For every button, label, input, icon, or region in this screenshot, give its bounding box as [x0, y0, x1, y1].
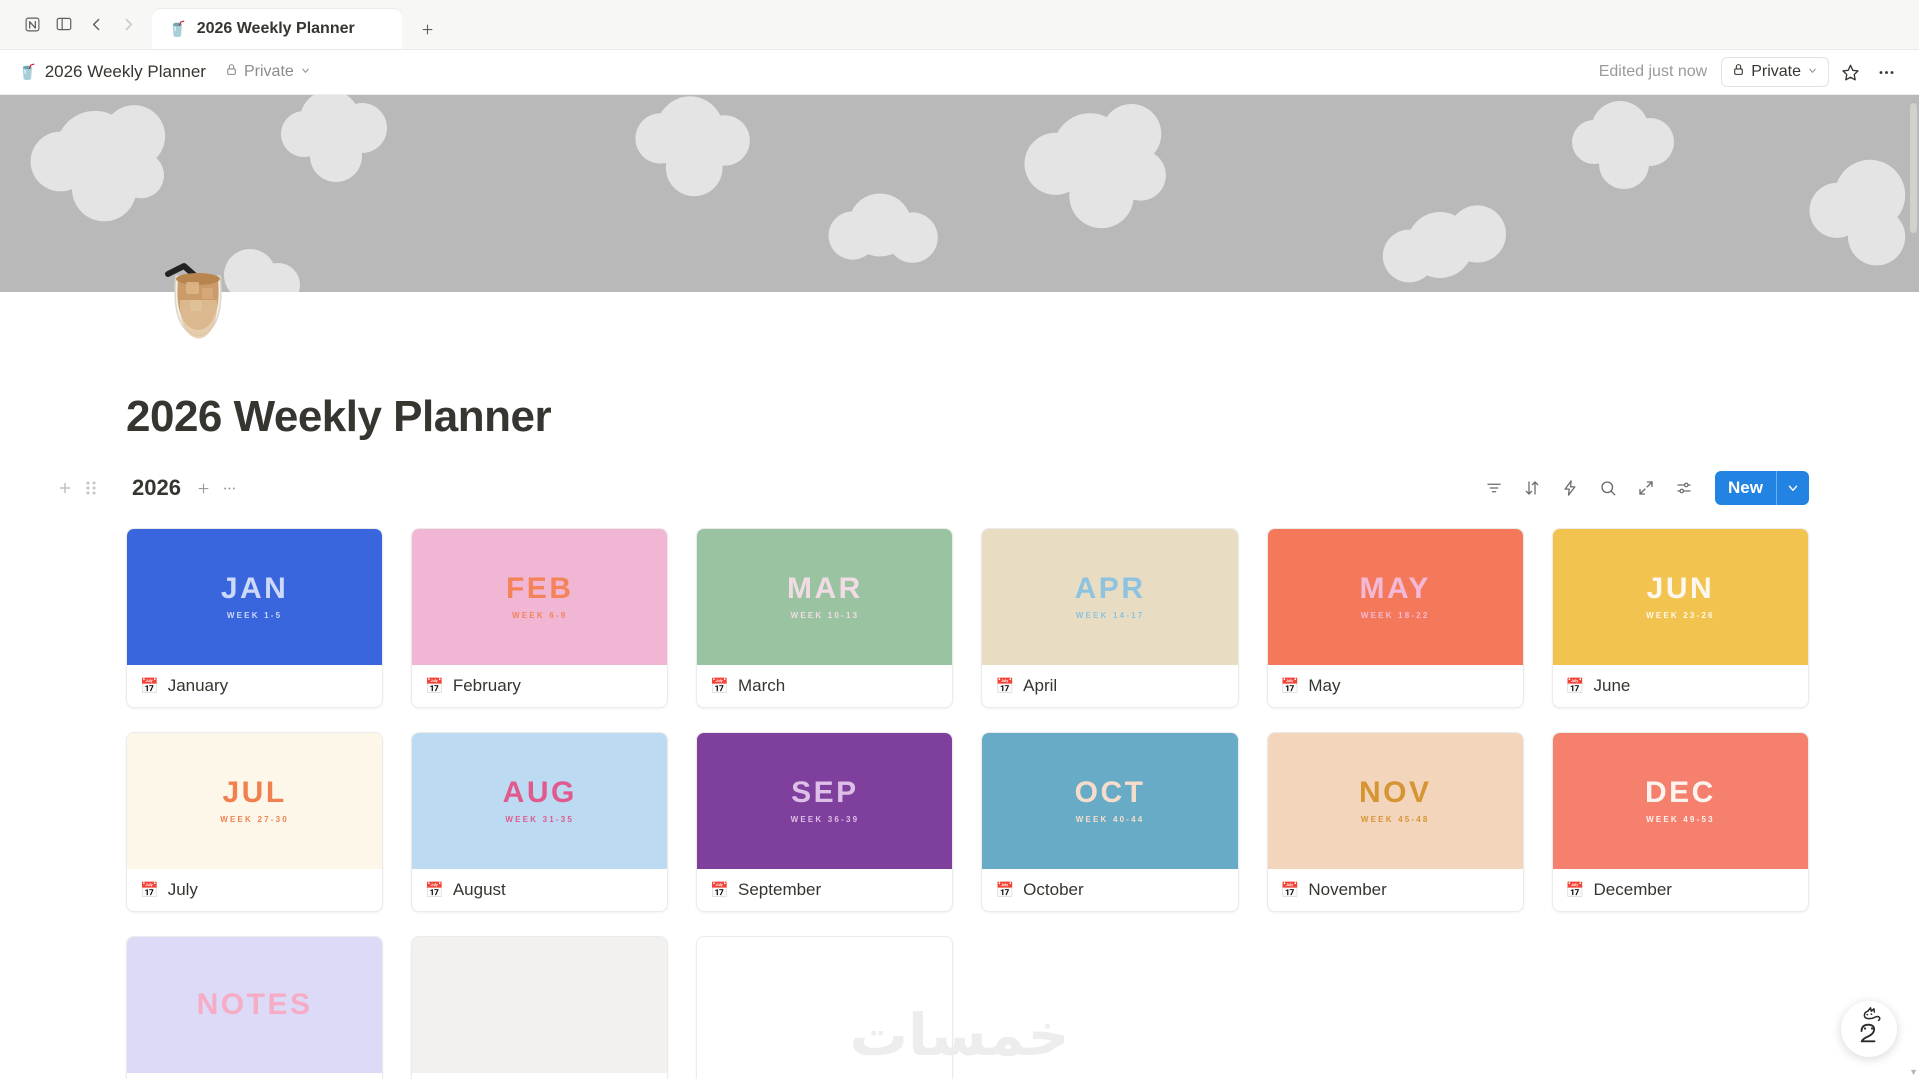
card-week-range: WEEK 27-30: [220, 815, 289, 824]
card-month-abbr: NOV: [1359, 778, 1432, 808]
card-title-row[interactable]: 📅April: [982, 665, 1237, 707]
card-title: December: [1594, 880, 1672, 900]
gallery-card[interactable]: JUNWEEK 23-26📅June: [1552, 528, 1809, 708]
card-cover: MARWEEK 10-13: [697, 529, 952, 665]
scroll-down-arrow-icon[interactable]: ▼: [1909, 1067, 1918, 1077]
card-cover: JANWEEK 1-5: [127, 529, 382, 665]
card-title: February: [453, 676, 521, 696]
automation-lightning-icon[interactable]: [1553, 471, 1587, 505]
add-view-plus-icon[interactable]: [191, 475, 217, 501]
card-week-range: WEEK 18-22: [1361, 611, 1430, 620]
card-title-row[interactable]: [412, 1073, 667, 1079]
notion-logo-icon[interactable]: [18, 10, 46, 38]
card-week-range: WEEK 1-5: [227, 611, 282, 620]
calendar-icon: 📅: [425, 883, 444, 898]
share-lock-icon: [1732, 63, 1745, 81]
page-content: 2026 Weekly Planner 2026: [0, 392, 1919, 1079]
cover-cloud-pattern: [0, 95, 1919, 292]
card-title-row[interactable]: [127, 1073, 382, 1079]
notion-help-widget[interactable]: [1841, 1001, 1897, 1057]
lock-icon: [225, 63, 238, 81]
card-title: January: [168, 676, 228, 696]
view-more-ellipsis-icon[interactable]: [217, 475, 243, 501]
card-title-row[interactable]: 📅January: [127, 665, 382, 707]
gallery-card[interactable]: APRWEEK 14-17📅April: [981, 528, 1238, 708]
share-chevron-down-icon: [1807, 63, 1818, 81]
new-button-chevron-down-icon[interactable]: [1776, 471, 1809, 505]
favorite-star-icon[interactable]: [1835, 57, 1865, 87]
gallery-card[interactable]: [411, 936, 668, 1079]
card-month-abbr: MAR: [787, 574, 863, 604]
new-button-label: New: [1715, 471, 1776, 505]
filter-icon[interactable]: [1477, 471, 1511, 505]
card-cover: JULWEEK 27-30: [127, 733, 382, 869]
gallery-card[interactable]: FEBWEEK 6-9📅February: [411, 528, 668, 708]
card-week-range: WEEK 10-13: [791, 611, 860, 620]
calendar-icon: 📅: [1281, 679, 1300, 694]
card-cover: [412, 937, 667, 1073]
scroll-thumb[interactable]: [1910, 103, 1917, 233]
card-week-range: WEEK 23-26: [1646, 611, 1715, 620]
card-cover: AUGWEEK 31-35: [412, 733, 667, 869]
card-title-row[interactable]: 📅June: [1553, 665, 1808, 707]
card-cover: DECWEEK 49-53: [1553, 733, 1808, 869]
database-title[interactable]: 2026: [126, 473, 187, 503]
top-bar-actions: Edited just now Private: [1599, 57, 1901, 87]
card-title-row[interactable]: 📅October: [982, 869, 1237, 911]
card-title: April: [1023, 676, 1057, 696]
browser-tab-2026-weekly-planner[interactable]: 🥤 2026 Weekly Planner: [152, 9, 402, 49]
card-month-abbr: SEP: [791, 778, 859, 808]
card-cover: APRWEEK 14-17: [982, 529, 1237, 665]
privacy-selector[interactable]: Private: [218, 60, 318, 84]
card-cover: SEPWEEK 36-39: [697, 733, 952, 869]
gallery-card[interactable]: NOTES: [126, 936, 383, 1079]
calendar-icon: 📅: [1281, 883, 1300, 898]
database-header: 2026: [0, 470, 1919, 506]
gallery-card[interactable]: AUGWEEK 31-35📅August: [411, 732, 668, 912]
breadcrumb-emoji-icon: 🥤: [18, 63, 37, 81]
page-cover[interactable]: [0, 95, 1919, 292]
calendar-icon: 📅: [425, 679, 444, 694]
privacy-label: Private: [244, 63, 294, 81]
gallery-card[interactable]: NOVWEEK 45-48📅November: [1267, 732, 1524, 912]
forward-chevron-right-icon[interactable]: [114, 10, 142, 38]
gallery-card[interactable]: OCTWEEK 40-44📅October: [981, 732, 1238, 912]
new-record-button[interactable]: New: [1715, 471, 1809, 505]
back-chevron-left-icon[interactable]: [82, 10, 110, 38]
notion-help-cat-icon: [1849, 1007, 1889, 1051]
expand-icon[interactable]: [1629, 471, 1663, 505]
calendar-icon: 📅: [1566, 883, 1585, 898]
card-cover: FEBWEEK 6-9: [412, 529, 667, 665]
card-week-range: WEEK 14-17: [1076, 611, 1145, 620]
sidebar-toggle-icon[interactable]: [50, 10, 78, 38]
card-week-range: WEEK 49-53: [1646, 815, 1715, 824]
card-title-row[interactable]: [697, 1073, 952, 1079]
gallery-card[interactable]: MAYWEEK 18-22📅May: [1267, 528, 1524, 708]
calendar-icon: 📅: [995, 679, 1014, 694]
drag-handle-icon[interactable]: [78, 475, 104, 501]
calendar-icon: 📅: [1566, 679, 1585, 694]
calendar-icon: 📅: [140, 679, 159, 694]
chevron-down-icon: [300, 63, 311, 81]
page-body: 2026 Weekly Planner 2026: [0, 95, 1919, 1079]
card-title-row[interactable]: 📅February: [412, 665, 667, 707]
card-month-abbr: JUN: [1647, 574, 1715, 604]
calendar-icon: 📅: [710, 883, 729, 898]
card-month-abbr: OCT: [1075, 778, 1146, 808]
gallery-view: JANWEEK 1-5📅JanuaryFEBWEEK 6-9📅FebruaryM…: [0, 506, 1919, 1079]
card-title: June: [1594, 676, 1631, 696]
gallery-card[interactable]: SEPWEEK 36-39📅September: [696, 732, 953, 912]
card-title: October: [1023, 880, 1083, 900]
card-week-range: WEEK 45-48: [1361, 815, 1430, 824]
card-week-range: WEEK 36-39: [791, 815, 860, 824]
tab-title: 2026 Weekly Planner: [197, 20, 355, 38]
card-cover: NOTES: [127, 937, 382, 1073]
more-ellipsis-icon[interactable]: [1871, 57, 1901, 87]
card-week-range: WEEK 6-9: [512, 611, 567, 620]
card-title-row[interactable]: 📅May: [1268, 665, 1523, 707]
card-month-abbr: APR: [1075, 574, 1146, 604]
card-month-abbr: DEC: [1645, 778, 1716, 808]
card-title-row[interactable]: 📅August: [412, 869, 667, 911]
share-button[interactable]: Private: [1721, 57, 1829, 87]
card-title-row[interactable]: 📅July: [127, 869, 382, 911]
calendar-icon: 📅: [140, 883, 159, 898]
calendar-icon: 📅: [710, 679, 729, 694]
card-month-abbr: NOTES: [197, 990, 313, 1020]
view-settings-icon[interactable]: [1667, 471, 1701, 505]
search-icon[interactable]: [1591, 471, 1625, 505]
gallery-card[interactable]: DECWEEK 49-53📅December: [1552, 732, 1809, 912]
window-chrome-controls: [0, 0, 152, 49]
card-month-abbr: MAY: [1360, 574, 1431, 604]
gallery-card[interactable]: [696, 936, 953, 1079]
card-title: September: [738, 880, 821, 900]
page-icon-iced-drink[interactable]: [150, 238, 246, 348]
card-month-abbr: JUL: [222, 778, 286, 808]
page-title[interactable]: 2026 Weekly Planner: [126, 392, 1919, 442]
card-week-range: WEEK 40-44: [1076, 815, 1145, 824]
card-title: March: [738, 676, 785, 696]
card-cover: MAYWEEK 18-22: [1268, 529, 1523, 665]
card-title-row[interactable]: 📅September: [697, 869, 952, 911]
gallery-card[interactable]: MARWEEK 10-13📅March: [696, 528, 953, 708]
card-cover: JUNWEEK 23-26: [1553, 529, 1808, 665]
card-title: July: [168, 880, 198, 900]
new-tab-plus-icon[interactable]: [410, 12, 444, 46]
add-block-plus-icon[interactable]: [52, 475, 78, 501]
tab-emoji-icon: 🥤: [168, 22, 187, 37]
breadcrumb[interactable]: 🥤 2026 Weekly Planner: [18, 62, 206, 82]
card-month-abbr: JAN: [221, 574, 289, 604]
card-month-abbr: AUG: [503, 778, 577, 808]
window-tab-strip: 🥤 2026 Weekly Planner: [0, 0, 1919, 50]
card-title-row[interactable]: 📅November: [1268, 869, 1523, 911]
share-label: Private: [1751, 63, 1801, 81]
card-cover: NOVWEEK 45-48: [1268, 733, 1523, 869]
sort-icon[interactable]: [1515, 471, 1549, 505]
breadcrumb-title[interactable]: 2026 Weekly Planner: [45, 62, 206, 82]
gallery-card[interactable]: JANWEEK 1-5📅January: [126, 528, 383, 708]
edited-status: Edited just now: [1599, 63, 1708, 81]
notion-top-bar: 🥤 2026 Weekly Planner Private Edited jus…: [0, 50, 1919, 95]
page-scrollbar[interactable]: ▲ ▼: [1908, 95, 1919, 1079]
calendar-icon: 📅: [995, 883, 1014, 898]
database-toolbar: New: [1477, 471, 1809, 505]
card-title-row[interactable]: 📅December: [1553, 869, 1808, 911]
gallery-card[interactable]: JULWEEK 27-30📅July: [126, 732, 383, 912]
card-title: November: [1308, 880, 1386, 900]
card-week-range: WEEK 31-35: [505, 815, 574, 824]
card-cover: [697, 937, 952, 1073]
card-title-row[interactable]: 📅March: [697, 665, 952, 707]
database-header-left: 2026: [52, 473, 243, 503]
card-month-abbr: FEB: [506, 574, 574, 604]
card-title: May: [1308, 676, 1340, 696]
card-title: August: [453, 880, 506, 900]
card-cover: OCTWEEK 40-44: [982, 733, 1237, 869]
